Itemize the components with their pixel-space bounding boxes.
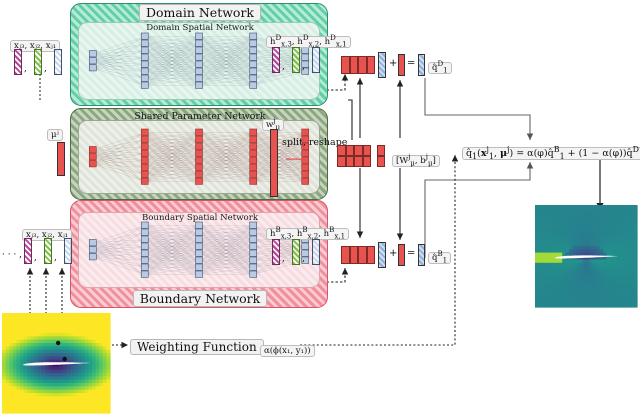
matrix-cell	[354, 156, 363, 167]
shared-mlp-graphic	[86, 126, 312, 188]
weighting-function-wrap: Weighting Function	[130, 336, 264, 355]
vector-separator: ,	[44, 64, 47, 74]
bias-vector-grid	[377, 145, 385, 167]
boundary-matmul-matrix	[341, 246, 375, 264]
vector-separator: ,	[302, 254, 305, 264]
vector-cell	[34, 49, 42, 75]
mu-input-label: μʲ	[47, 129, 63, 141]
alpha-label-wrap: α(ϕ(x₁, y₁))	[260, 338, 315, 358]
main-formula: q̂1(xj1, μj) = α(φ)q̂B1 + (1 − α(φ))q̂D1	[462, 147, 640, 160]
vector-cell	[64, 238, 72, 264]
boundary-network-title: Boundary Network	[133, 290, 267, 307]
mu-input-vector	[57, 142, 65, 176]
boundary-hidden-stack	[378, 242, 386, 268]
boundary-equals-sign: =	[407, 248, 415, 259]
vector-separator: ,	[282, 62, 285, 72]
boundary-output-vector	[418, 244, 425, 266]
vector-cell	[272, 47, 280, 73]
boundary-q-label-wrap: q̂B1	[428, 245, 451, 267]
matrix-cell	[337, 156, 346, 167]
domain-hidden-vectors: ,,	[272, 47, 334, 75]
airfoil-input-field	[2, 313, 110, 413]
domain-plus-sign: +	[389, 58, 397, 69]
domain-q-label: q̂D1	[428, 62, 452, 74]
boundary-plus-sign: +	[389, 248, 397, 259]
boundary-input-vectors: ,,	[24, 238, 80, 264]
mu-label-wrap: μʲ	[47, 122, 63, 142]
vector-cell	[292, 47, 300, 73]
domain-network-title: Domain Network	[139, 4, 261, 21]
domain-input-vectors: ,,	[14, 49, 70, 75]
boundary-hidden-vectors: ,,	[272, 239, 334, 267]
vector-separator: ,	[54, 253, 57, 263]
matrix-cell	[354, 145, 363, 156]
main-formula-wrap: q̂1(xj1, μj) = α(φ)q̂B1 + (1 − α(φ))q̂D1	[462, 141, 640, 163]
matrix-cell	[367, 56, 376, 74]
matrix-cell	[363, 145, 372, 156]
wmu-vector	[270, 129, 278, 197]
matrix-cell	[350, 56, 359, 74]
split-arrow-icon: ⟶	[285, 150, 307, 168]
vector-cell	[272, 239, 280, 265]
matrix-cell	[350, 246, 359, 264]
domain-output-vector	[418, 54, 425, 76]
weighting-function-title: Weighting Function	[130, 339, 264, 355]
boundary-input-prefix: · · · ,	[2, 250, 22, 260]
vector-cell	[24, 238, 32, 264]
matrix-cell	[377, 145, 385, 156]
boundary-network-title-wrap: Boundary Network	[140, 290, 260, 306]
domain-equals-sign: =	[407, 58, 415, 69]
vector-cell	[312, 239, 320, 265]
vector-cell	[54, 49, 62, 75]
domain-matmul-matrix	[341, 56, 375, 74]
matrix-cell	[341, 246, 350, 264]
wb-label-wrap: [Wjμ, bjμ]	[392, 148, 440, 170]
weight-matrix-grid	[337, 145, 371, 167]
alpha-label: α(ϕ(x₁, y₁))	[260, 345, 315, 357]
vector-cell	[44, 238, 52, 264]
matrix-cell	[377, 156, 385, 167]
matrix-cell	[346, 156, 355, 167]
domain-bias-vector	[398, 54, 405, 76]
vector-cell	[312, 47, 320, 73]
matrix-cell	[358, 56, 367, 74]
vector-cell	[14, 49, 22, 75]
matrix-cell	[341, 56, 350, 74]
matrix-cell	[358, 246, 367, 264]
domain-q-label-wrap: q̂D1	[428, 55, 452, 77]
boundary-bias-vector	[398, 244, 405, 266]
domain-hidden-stack	[378, 52, 386, 78]
matrix-cell	[346, 145, 355, 156]
vector-separator: ,	[24, 64, 27, 74]
vector-separator: ,	[302, 62, 305, 72]
vector-cell	[292, 239, 300, 265]
matrix-cell	[367, 246, 376, 264]
matrix-cell	[363, 156, 372, 167]
matrix-cell	[337, 145, 346, 156]
airfoil-output-field	[535, 205, 637, 307]
weights-bias-label: [Wjμ, bjμ]	[392, 155, 440, 167]
boundary-q-label: q̂B1	[428, 252, 451, 264]
vector-separator: ,	[282, 254, 285, 264]
domain-network-title-wrap: Domain Network	[140, 4, 260, 20]
vector-separator: ,	[34, 253, 37, 263]
